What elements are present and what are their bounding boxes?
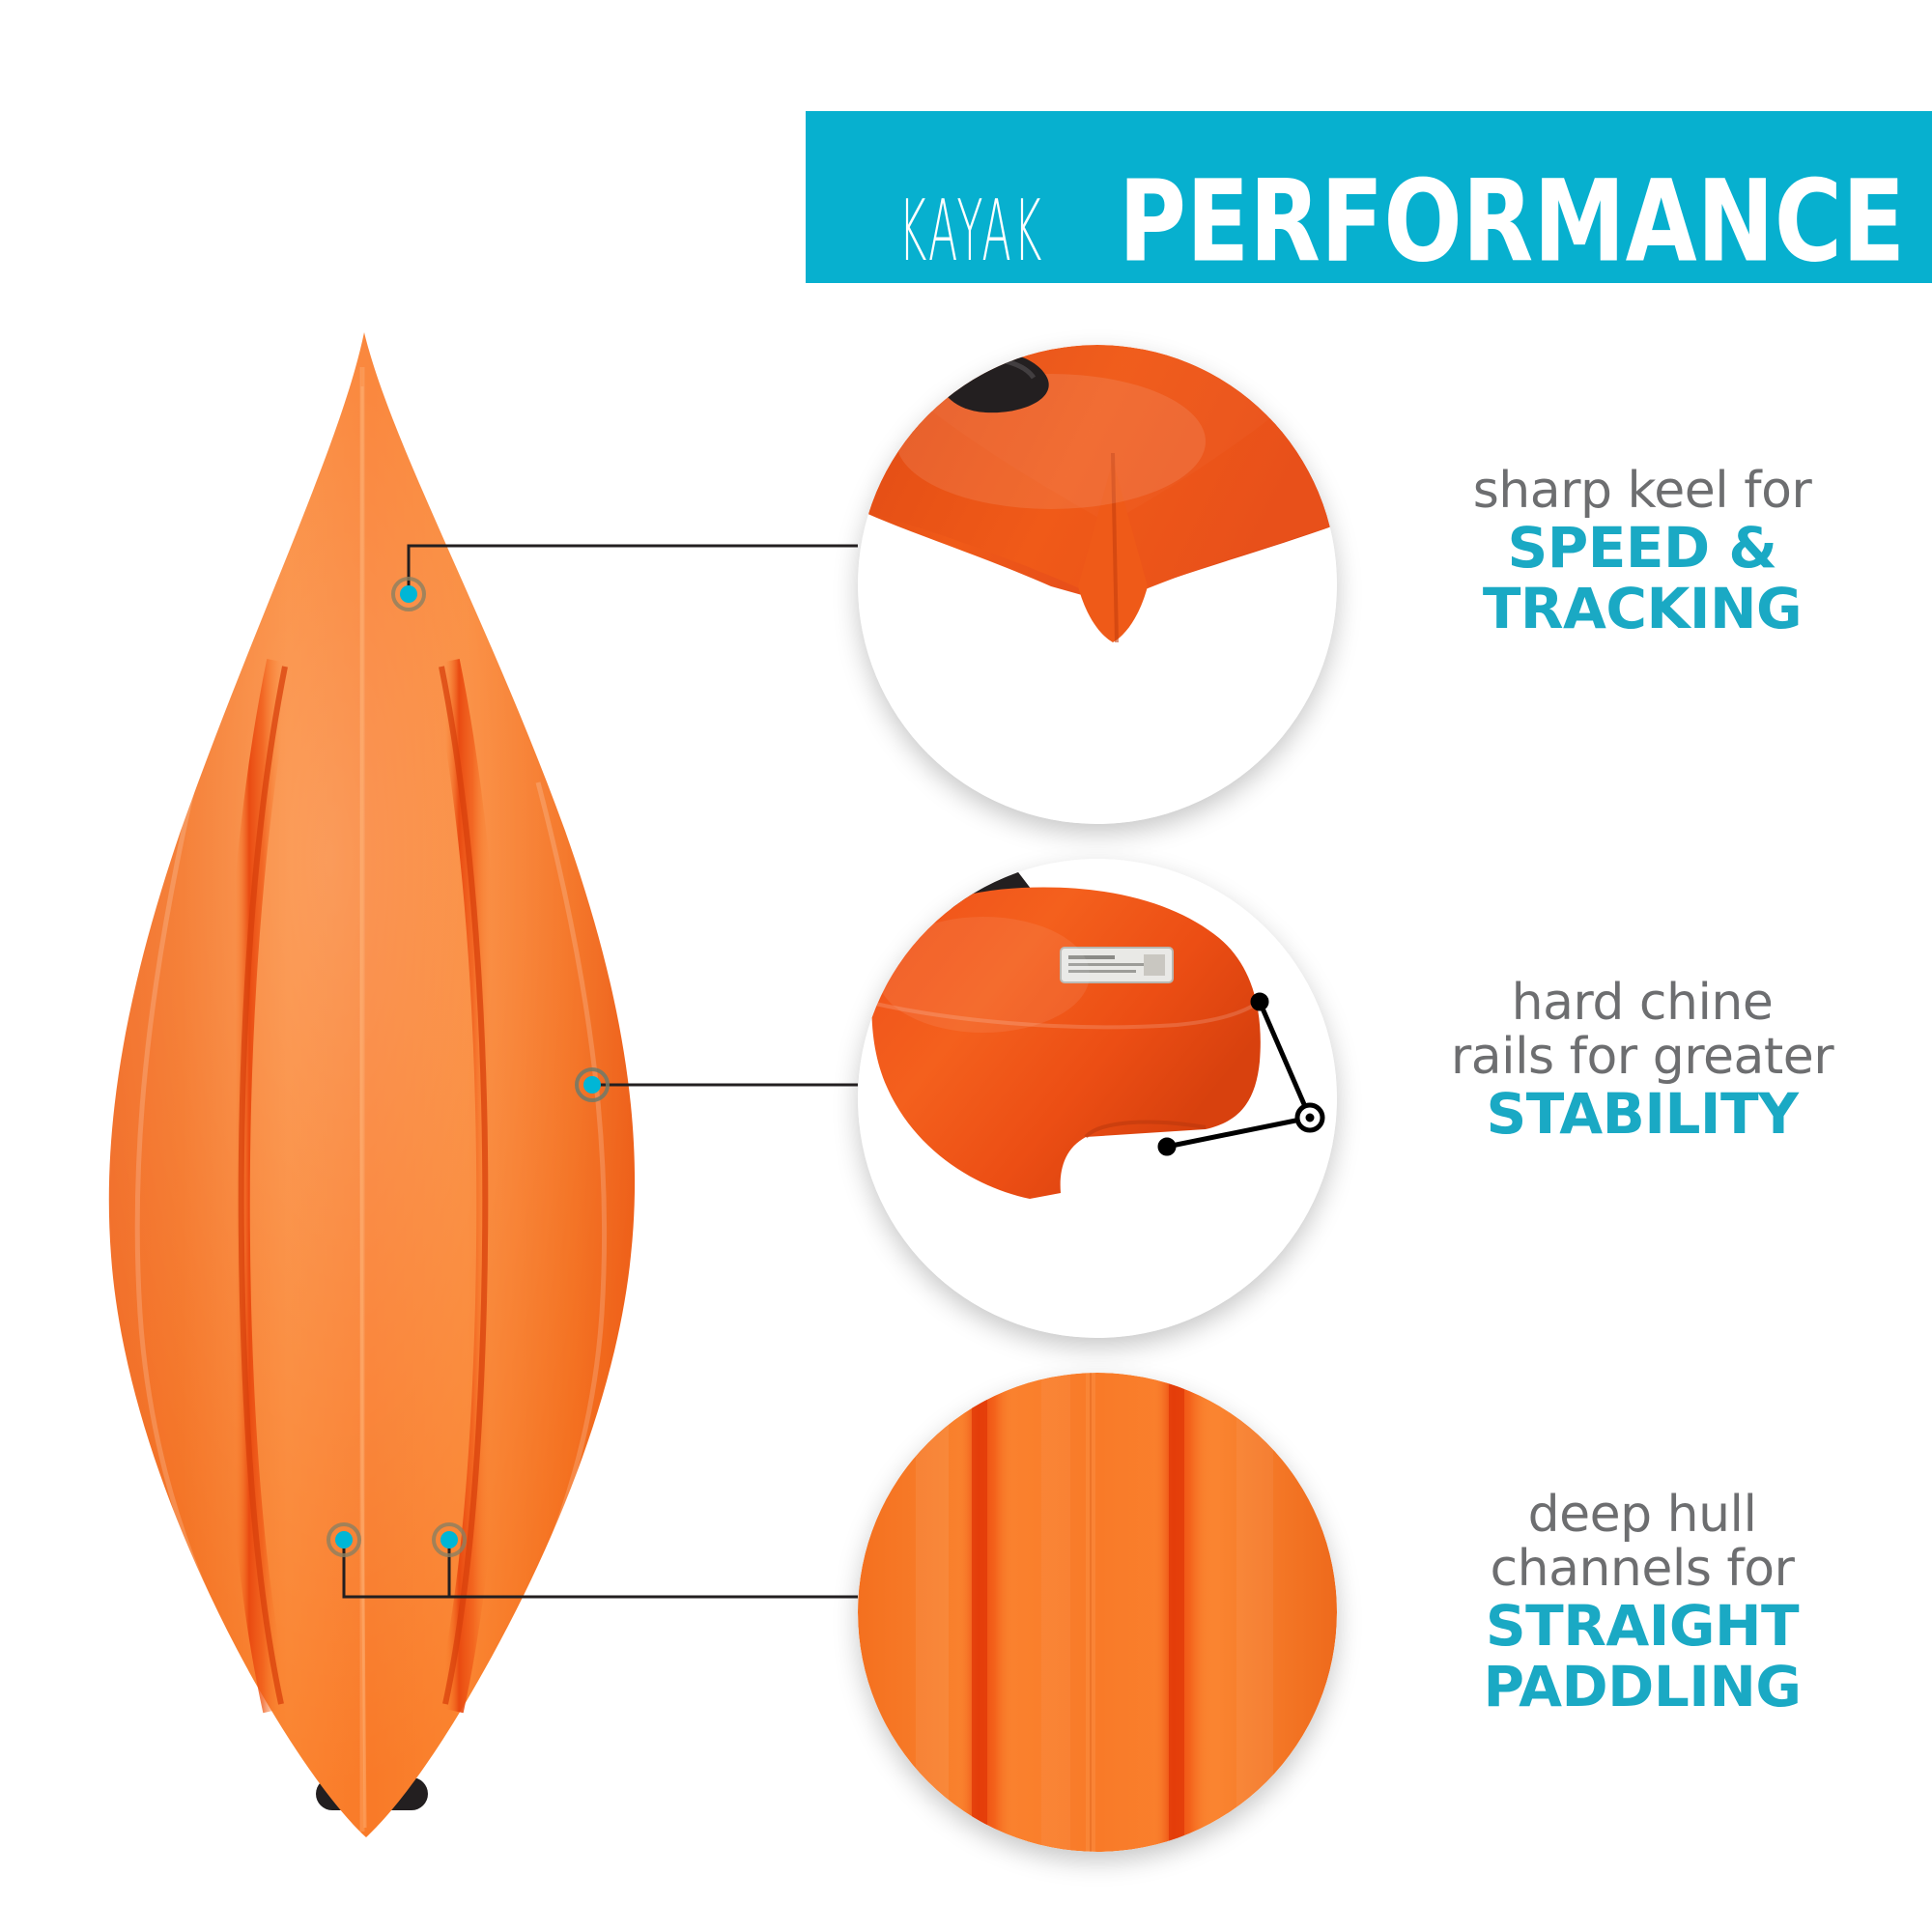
chine-closeup-image — [858, 859, 1337, 1338]
callout-highlight-paddling-2: PADDLING — [1372, 1657, 1913, 1718]
channels-closeup-image — [858, 1373, 1337, 1852]
callout-highlight-speed-1: SPEED & — [1372, 518, 1913, 579]
title-kayak: KAYAK — [898, 192, 1043, 272]
header-banner: KAYAK PERFORMANCE — [806, 111, 1932, 283]
title-performance: PERFORMANCE — [1119, 168, 1905, 275]
detail-circle-hull-channels — [858, 1373, 1337, 1852]
page-title: KAYAK PERFORMANCE — [802, 180, 1905, 275]
keel-closeup-image — [858, 345, 1337, 824]
callout-text-stability: hard chine rails for greater STABILITY — [1372, 976, 1913, 1145]
kayak-hull-svg — [101, 328, 642, 1845]
callout-highlight-stability-1: STABILITY — [1372, 1084, 1913, 1145]
callout-lead-stability-2: rails for greater — [1372, 1030, 1913, 1084]
callout-text-speed-tracking: sharp keel for SPEED & TRACKING — [1372, 464, 1913, 639]
callout-lead-paddling-1: deep hull — [1372, 1488, 1913, 1542]
callout-highlight-speed-2: TRACKING — [1372, 579, 1913, 639]
detail-circle-sharp-keel — [858, 345, 1337, 824]
kayak-hull-illustration — [101, 328, 642, 1845]
callout-text-straight-paddling: deep hull channels for STRAIGHT PADDLING — [1372, 1488, 1913, 1718]
infographic-canvas: KAYAK PERFORMANCE — [0, 0, 1932, 1932]
callout-lead-speed: sharp keel for — [1372, 464, 1913, 518]
callout-lead-paddling-2: channels for — [1372, 1542, 1913, 1596]
detail-circle-hard-chine — [858, 859, 1337, 1338]
callout-lead-stability-1: hard chine — [1372, 976, 1913, 1030]
callout-highlight-paddling-1: STRAIGHT — [1372, 1596, 1913, 1657]
